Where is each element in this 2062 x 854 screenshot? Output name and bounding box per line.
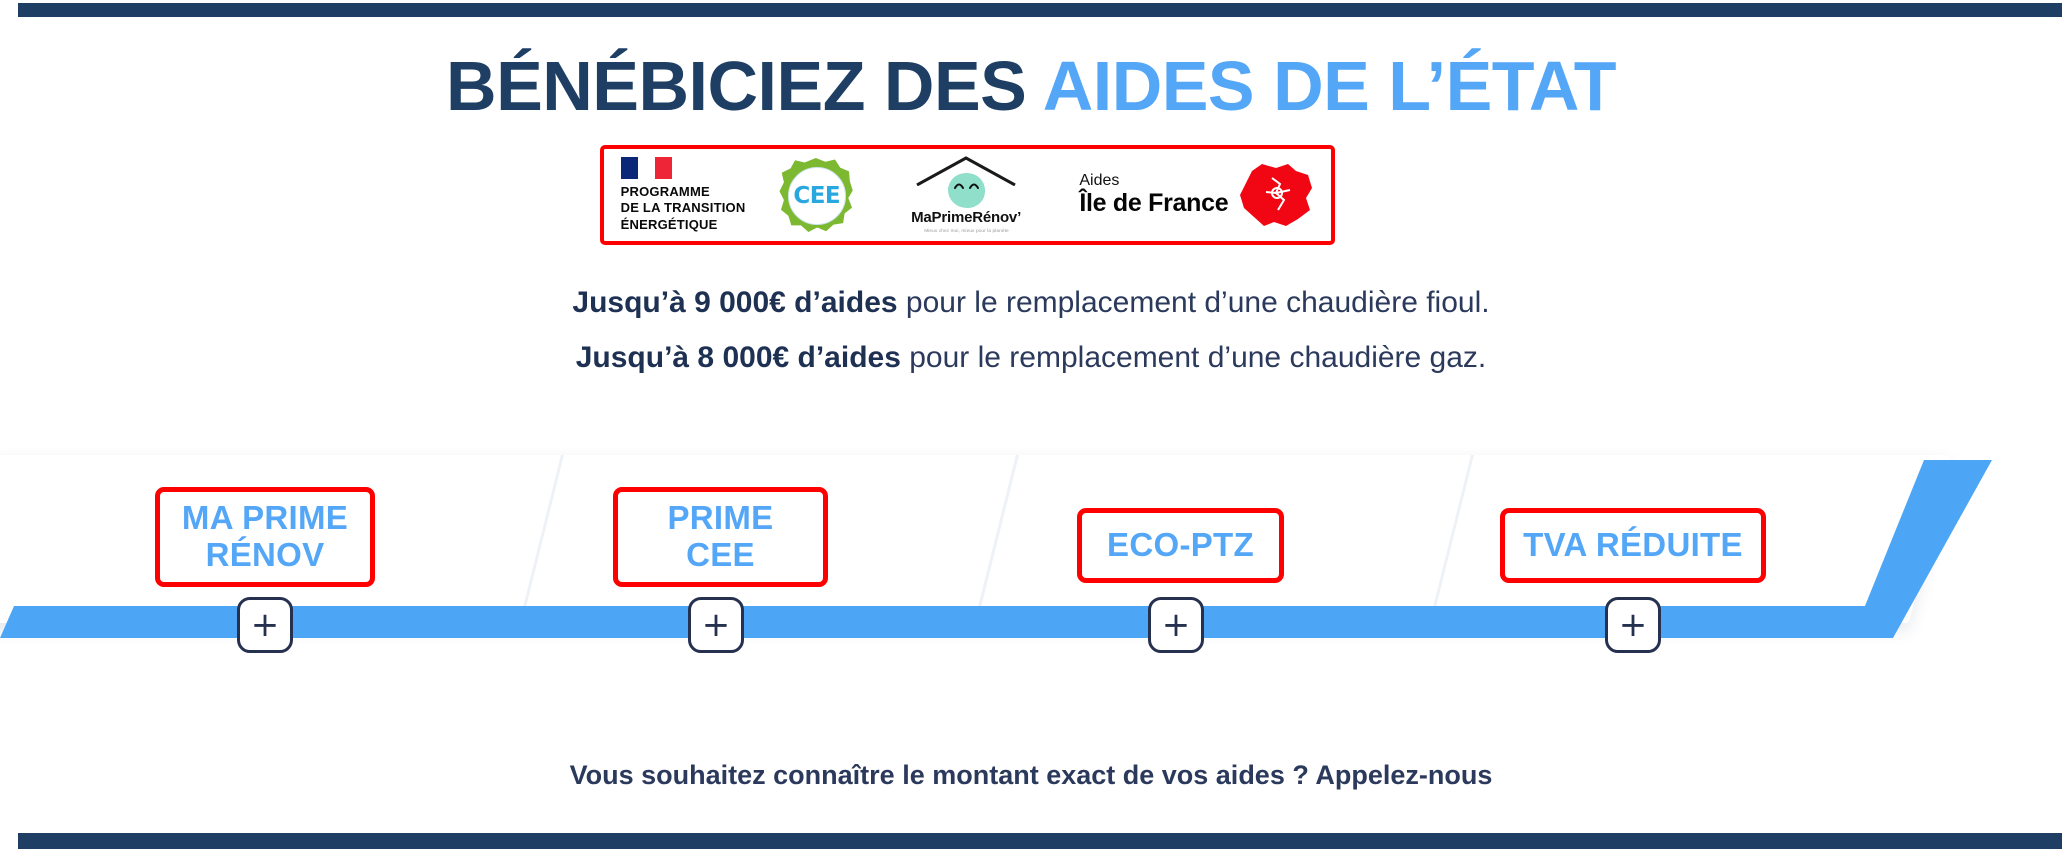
logo-maprimerenov-tagline: Mieux chez moi, mieux pour la planète <box>924 228 1009 234</box>
subtitle-line-1-amount: Jusqu’à 9 000€ d’aides <box>572 286 897 319</box>
subtitle-line-1: Jusqu’à 9 000€ d’aides pour le remplacem… <box>0 286 2062 320</box>
french-flag-icon <box>621 157 672 179</box>
logo-idf-line1: Aides <box>1079 173 1119 190</box>
logo-aides-ile-de-france: Aides Île de France <box>1079 149 1314 241</box>
aid-expand-button-tva-reduite[interactable]: + <box>1605 597 1661 653</box>
top-divider-bar <box>18 3 2062 17</box>
mascot-eyes-icon <box>954 180 980 190</box>
logo-cee-label: CEE <box>793 183 840 209</box>
logo-programme-transition-energetique: PROGRAMME DE LA TRANSITION ÉNERGÉTIQUE <box>621 149 746 241</box>
logo-programme-label: PROGRAMME DE LA TRANSITION ÉNERGÉTIQUE <box>621 184 746 234</box>
aid-expand-button-eco-ptz[interactable]: + <box>1148 597 1204 653</box>
ile-de-france-map-icon <box>1236 162 1314 228</box>
call-to-action-text: Vous souhaitez connaître le montant exac… <box>0 760 2062 791</box>
aid-expand-button-ma-prime-renov[interactable]: + <box>237 597 293 653</box>
mascot-face-icon <box>948 173 985 208</box>
logo-idf-line2: Île de France <box>1079 190 1228 216</box>
subtitle-line-2-rest: pour le remplacement d’une chaudière gaz… <box>901 341 1486 374</box>
aid-card-ma-prime-renov[interactable]: MA PRIME RÉNOV <box>155 487 375 587</box>
bottom-divider-bar <box>18 833 2062 849</box>
page-title-dark: BÉNÉBICIEZ DES <box>446 47 1043 125</box>
aid-card-tva-reduite[interactable]: TVA RÉDUITE <box>1500 508 1766 583</box>
logo-cee: CEE <box>779 149 853 241</box>
aids-band: MA PRIME RÉNOV + PRIME CEE + ECO-PTZ + T… <box>0 440 2062 660</box>
aid-expand-button-prime-cee[interactable]: + <box>688 597 744 653</box>
subtitle-line-2: Jusqu’à 8 000€ d’aides pour le remplacem… <box>0 341 2062 375</box>
page-title-blue: AIDES DE L’ÉTAT <box>1043 47 1616 125</box>
subtitle-line-2-amount: Jusqu’à 8 000€ d’aides <box>576 341 901 374</box>
aid-card-prime-cee[interactable]: PRIME CEE <box>613 487 828 587</box>
logo-maprimerenov: MaPrimeRénov’ Mieux chez moi, mieux pour… <box>886 149 1046 241</box>
page-title: BÉNÉBICIEZ DES AIDES DE L’ÉTAT <box>0 46 2062 126</box>
cee-disc: CEE <box>788 167 846 225</box>
subtitle-line-1-rest: pour le remplacement d’une chaudière fio… <box>898 286 1490 319</box>
partner-logo-band: PROGRAMME DE LA TRANSITION ÉNERGÉTIQUE C… <box>600 145 1335 245</box>
aid-card-eco-ptz[interactable]: ECO-PTZ <box>1077 508 1284 583</box>
logo-maprimerenov-label: MaPrimeRénov’ <box>911 209 1021 226</box>
